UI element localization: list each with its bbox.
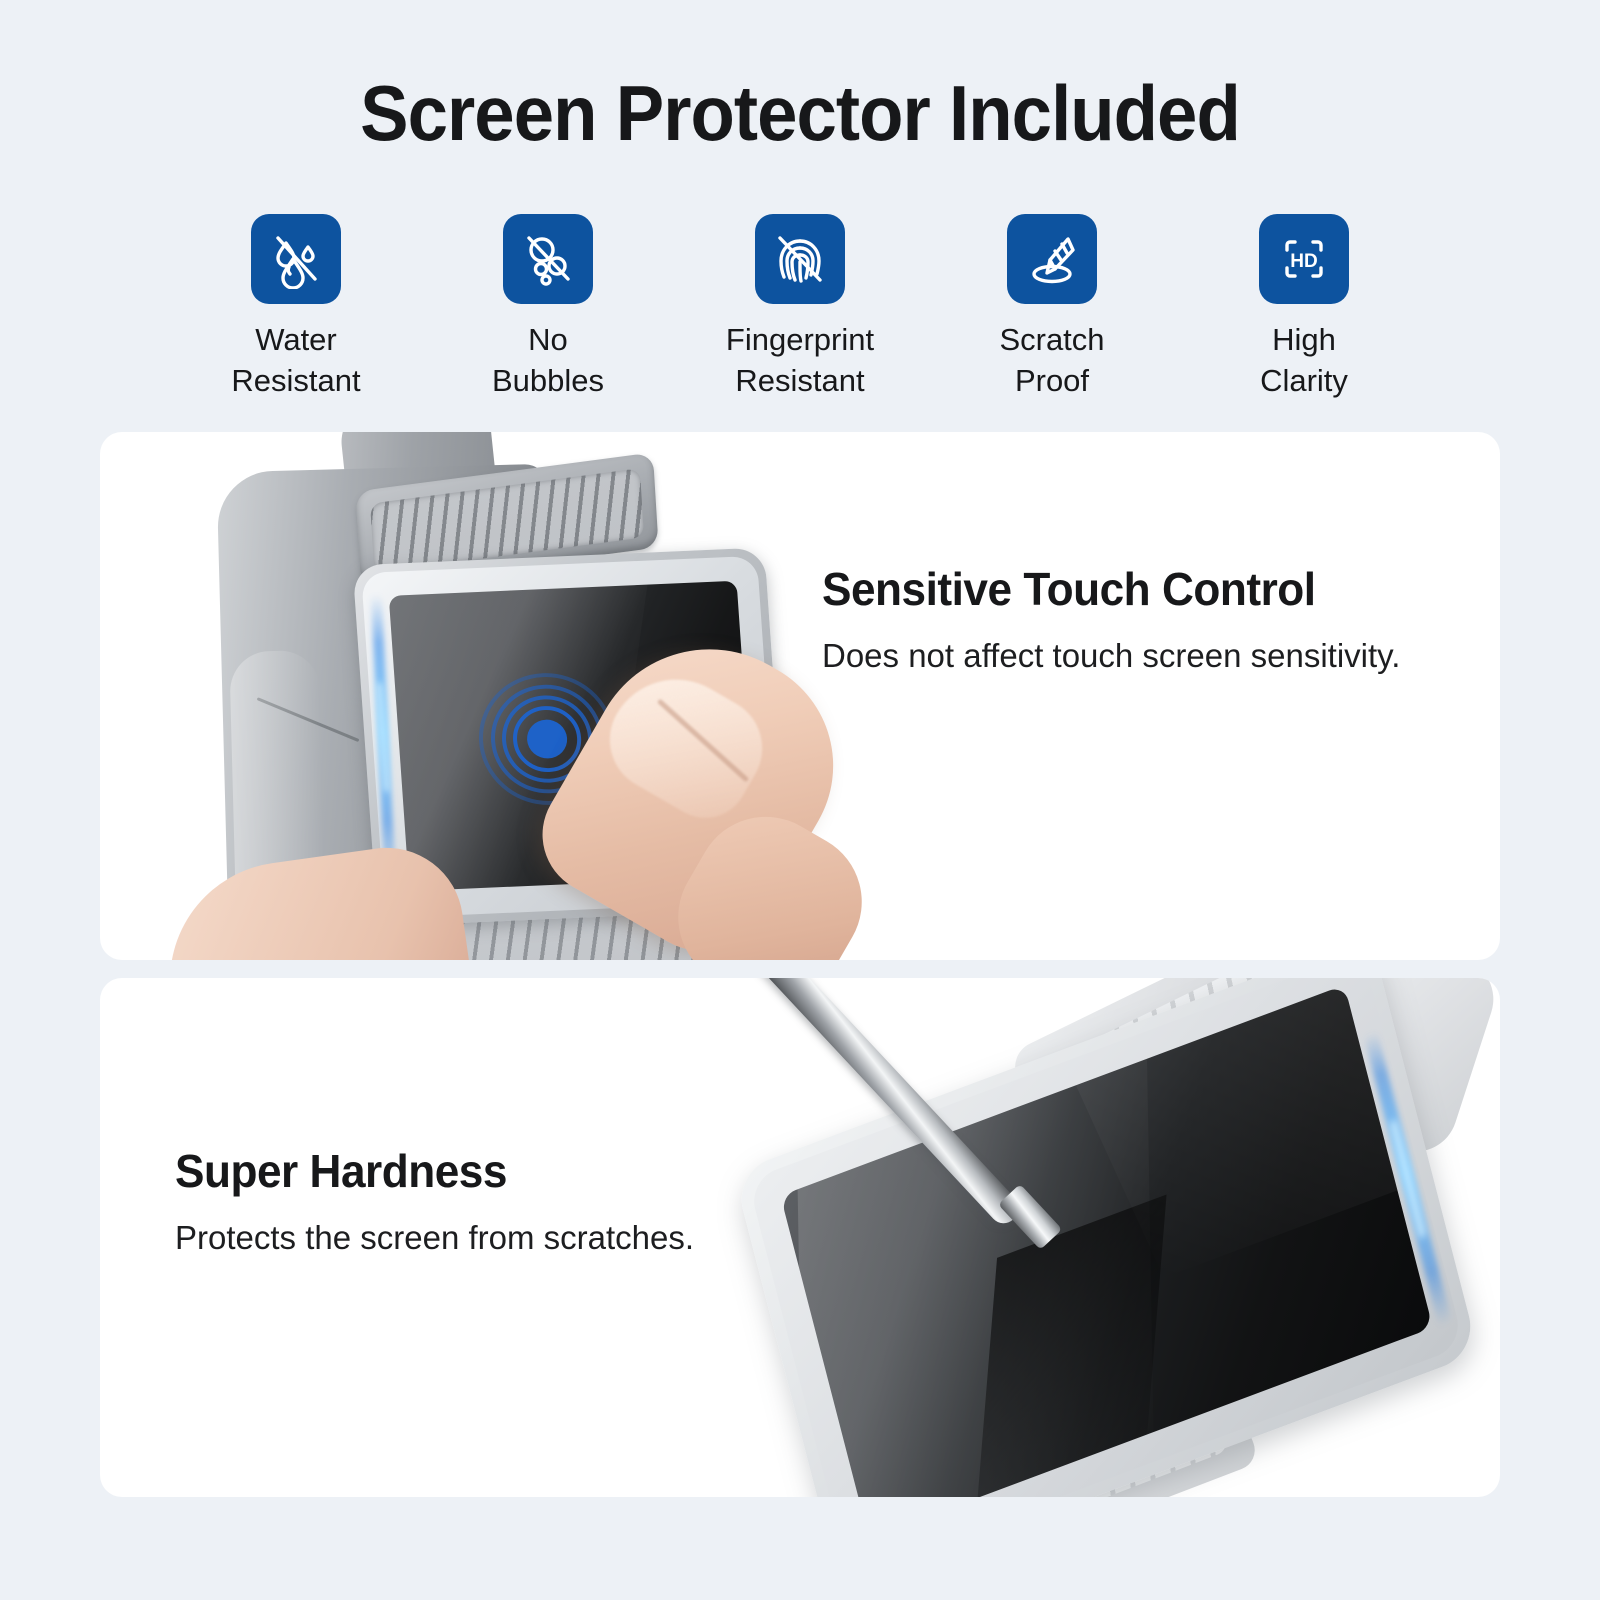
feature-label: Scratch Proof [999, 320, 1104, 402]
bubbles-slash-icon [518, 229, 578, 289]
panel-text-block: Super Hardness Protects the screen from … [175, 1146, 815, 1258]
feature-tile: HD [1259, 214, 1349, 304]
feature-label: High Clarity [1260, 320, 1348, 402]
water-drop-slash-icon [266, 229, 326, 289]
panel-heading: Super Hardness [175, 1146, 789, 1197]
hd-frame-icon: HD [1274, 229, 1334, 289]
blade-scratch-icon [1022, 229, 1082, 289]
panel-text-block: Sensitive Touch Control Does not affect … [822, 564, 1442, 676]
svg-text:HD: HD [1290, 251, 1317, 272]
feature-badge-row: Water Resistant No Bubbles [196, 214, 1404, 402]
feature-tile [755, 214, 845, 304]
product-photo-touch [100, 432, 1500, 960]
panel-heading: Sensitive Touch Control [822, 564, 1417, 615]
feature-label: No Bubbles [492, 320, 604, 402]
feature-no-bubbles: No Bubbles [448, 214, 648, 402]
chisel-tool-icon [752, 978, 1112, 1206]
panel-subheading: Does not affect touch screen sensitivity… [822, 635, 1442, 676]
feature-scratch-proof: Scratch Proof [952, 214, 1152, 402]
feature-tile [503, 214, 593, 304]
feature-tile [1007, 214, 1097, 304]
feature-label: Water Resistant [231, 320, 360, 402]
panel-sensitive-touch-control: Sensitive Touch Control Does not affect … [100, 432, 1500, 960]
feature-water-resistant: Water Resistant [196, 214, 396, 402]
feature-fingerprint-resistant: Fingerprint Resistant [700, 214, 900, 402]
feature-tile [251, 214, 341, 304]
chisel-shaft [730, 978, 1025, 1229]
panel-super-hardness: Super Hardness Protects the screen from … [100, 978, 1500, 1497]
fingerprint-slash-icon [769, 228, 831, 290]
feature-high-clarity: HD High Clarity [1204, 214, 1404, 402]
page-title: Screen Protector Included [56, 74, 1544, 152]
feature-label: Fingerprint Resistant [726, 320, 874, 402]
panel-subheading: Protects the screen from scratches. [175, 1217, 815, 1258]
device-seam [257, 697, 360, 742]
fingertip [577, 646, 847, 960]
gimbal-camera-device [205, 432, 905, 960]
gimbal-camera-device [728, 978, 1500, 1497]
